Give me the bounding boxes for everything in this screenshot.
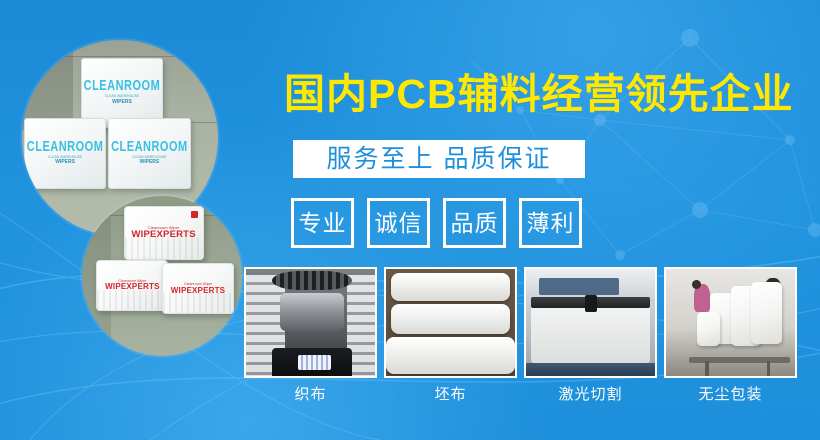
process-caption: 织布: [244, 387, 377, 402]
cleanroom-package: CLEANROOM CLEAN WAREHOUSE WIPERS: [108, 118, 190, 189]
package-brand: CLEANROOM: [111, 140, 188, 155]
process-photo-weaving: [244, 267, 377, 378]
promo-banner: CLEANROOM CLEAN WAREHOUSE WIPERS CLEANRO…: [0, 0, 820, 440]
banner-subtitle-bar: 服务至上 品质保证: [293, 140, 585, 178]
process-photo-laser-cutting: [524, 267, 657, 378]
process-item-laser-cutting: 激光切割: [524, 267, 657, 402]
cleanroom-package: CLEANROOM CLEAN WAREHOUSE WIPERS: [24, 118, 106, 189]
process-item-cleanroom-packing: 无尘包装: [664, 267, 797, 402]
value-tag-label: 诚信: [375, 212, 423, 235]
wipexperts-bales-photo: Cleanroom Wiper WIPEXPERTS Cleanroom Wip…: [82, 196, 242, 356]
process-photo-strip: 织布 坯布: [244, 267, 797, 402]
package-brand: CLEANROOM: [84, 79, 161, 94]
value-tag-professional: 专业: [291, 198, 354, 248]
process-item-greige-fabric: 坯布: [384, 267, 517, 402]
process-item-weaving: 织布: [244, 267, 377, 402]
value-tag-label: 薄利: [527, 212, 575, 235]
fabric-rolls-photo: [386, 269, 515, 376]
value-tag-label: 品质: [451, 212, 499, 235]
package-line3: WIPERS: [112, 100, 132, 105]
value-tag-low-margin: 薄利: [519, 198, 582, 248]
package-line3: WIPERS: [140, 160, 160, 165]
value-tag-integrity: 诚信: [367, 198, 430, 248]
knitting-machine-photo: [246, 269, 375, 376]
laser-cutter-photo: [526, 269, 655, 376]
packing-room-photo: [666, 269, 795, 376]
value-tag-list: 专业 诚信 品质 薄利: [291, 198, 582, 248]
value-tag-label: 专业: [299, 212, 347, 235]
process-photo-cleanroom-packing: [664, 267, 797, 378]
value-tag-quality: 品质: [443, 198, 506, 248]
product-circle-wipexperts: Cleanroom Wiper WIPEXPERTS Cleanroom Wip…: [82, 196, 242, 356]
package-line3: WIPERS: [55, 160, 75, 165]
process-photo-greige-fabric: [384, 267, 517, 378]
banner-headline: 国内PCB辅料经营领先企业: [284, 74, 794, 115]
process-caption: 坯布: [384, 387, 517, 402]
wipexperts-package: Cleanroom Wiper WIPEXPERTS: [124, 206, 204, 260]
package-brand: CLEANROOM: [27, 140, 104, 155]
wipexperts-package: Cleanroom Wiper WIPEXPERTS: [162, 263, 234, 314]
process-caption: 激光切割: [524, 387, 657, 402]
process-caption: 无尘包装: [664, 387, 797, 402]
wipexperts-package: Cleanroom Wiper WIPEXPERTS: [96, 260, 168, 311]
banner-subtitle-text: 服务至上 品质保证: [327, 147, 552, 172]
